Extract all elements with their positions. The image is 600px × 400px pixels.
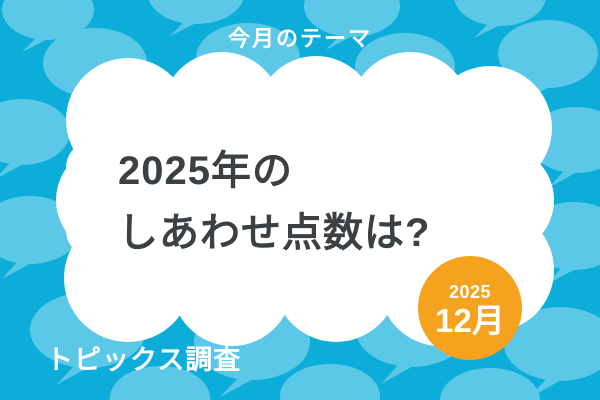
theme-banner: 今月のテーマ 2025年の しあわせ点数は? 2025 12月 トピックス調査 [0,0,600,400]
page-title: 今月のテーマ [0,26,600,52]
headline-line-1: 2025年の [118,142,430,200]
month-badge: 2025 12月 [418,256,522,360]
badge-year: 2025 [449,283,491,301]
headline: 2025年の しあわせ点数は? [118,142,430,262]
survey-label: トピックス調査 [46,344,241,376]
headline-line-2: しあわせ点数は? [118,204,430,262]
badge-month: 12月 [435,304,505,337]
